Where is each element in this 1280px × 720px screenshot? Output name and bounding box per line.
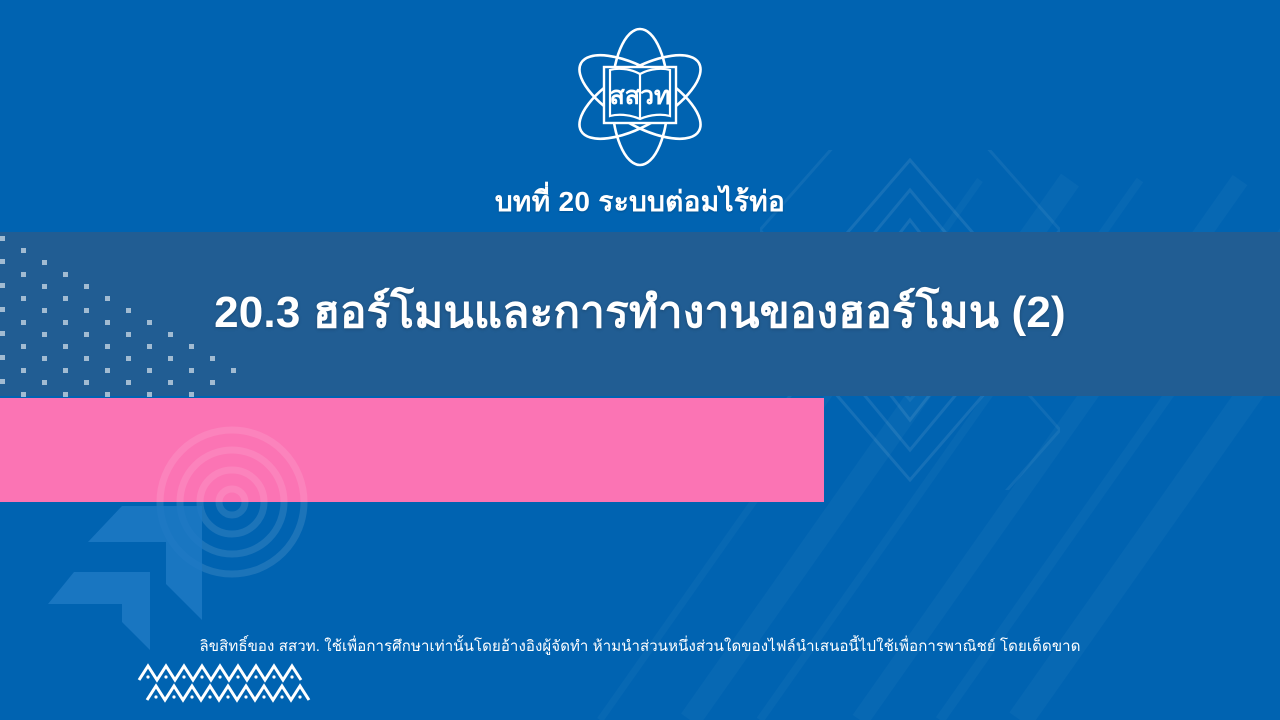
slide-canvas: สสวท บทที่ 20 ระบบต่อมไร้ท่อ 20.3 ฮอร์โม… [0, 0, 1280, 720]
section-title: 20.3 ฮอร์โมนและการทำงานของฮอร์โมน (2) [0, 288, 1280, 339]
chevron-arrows-decoration [30, 500, 290, 650]
chapter-title: บทที่ 20 ระบบต่อมไร้ท่อ [0, 186, 1280, 218]
copyright-notice: ลิขสิทธิ์ของ สสวท. ใช้เพื่อการศึกษาเท่าน… [0, 634, 1280, 658]
atom-book-icon: สสวท [565, 22, 715, 172]
pink-bar-label [0, 398, 824, 502]
ipst-logo: สสวท [565, 22, 715, 172]
logo-book-text: สสวท [609, 82, 670, 110]
zigzag-ornament-decoration [135, 662, 320, 704]
